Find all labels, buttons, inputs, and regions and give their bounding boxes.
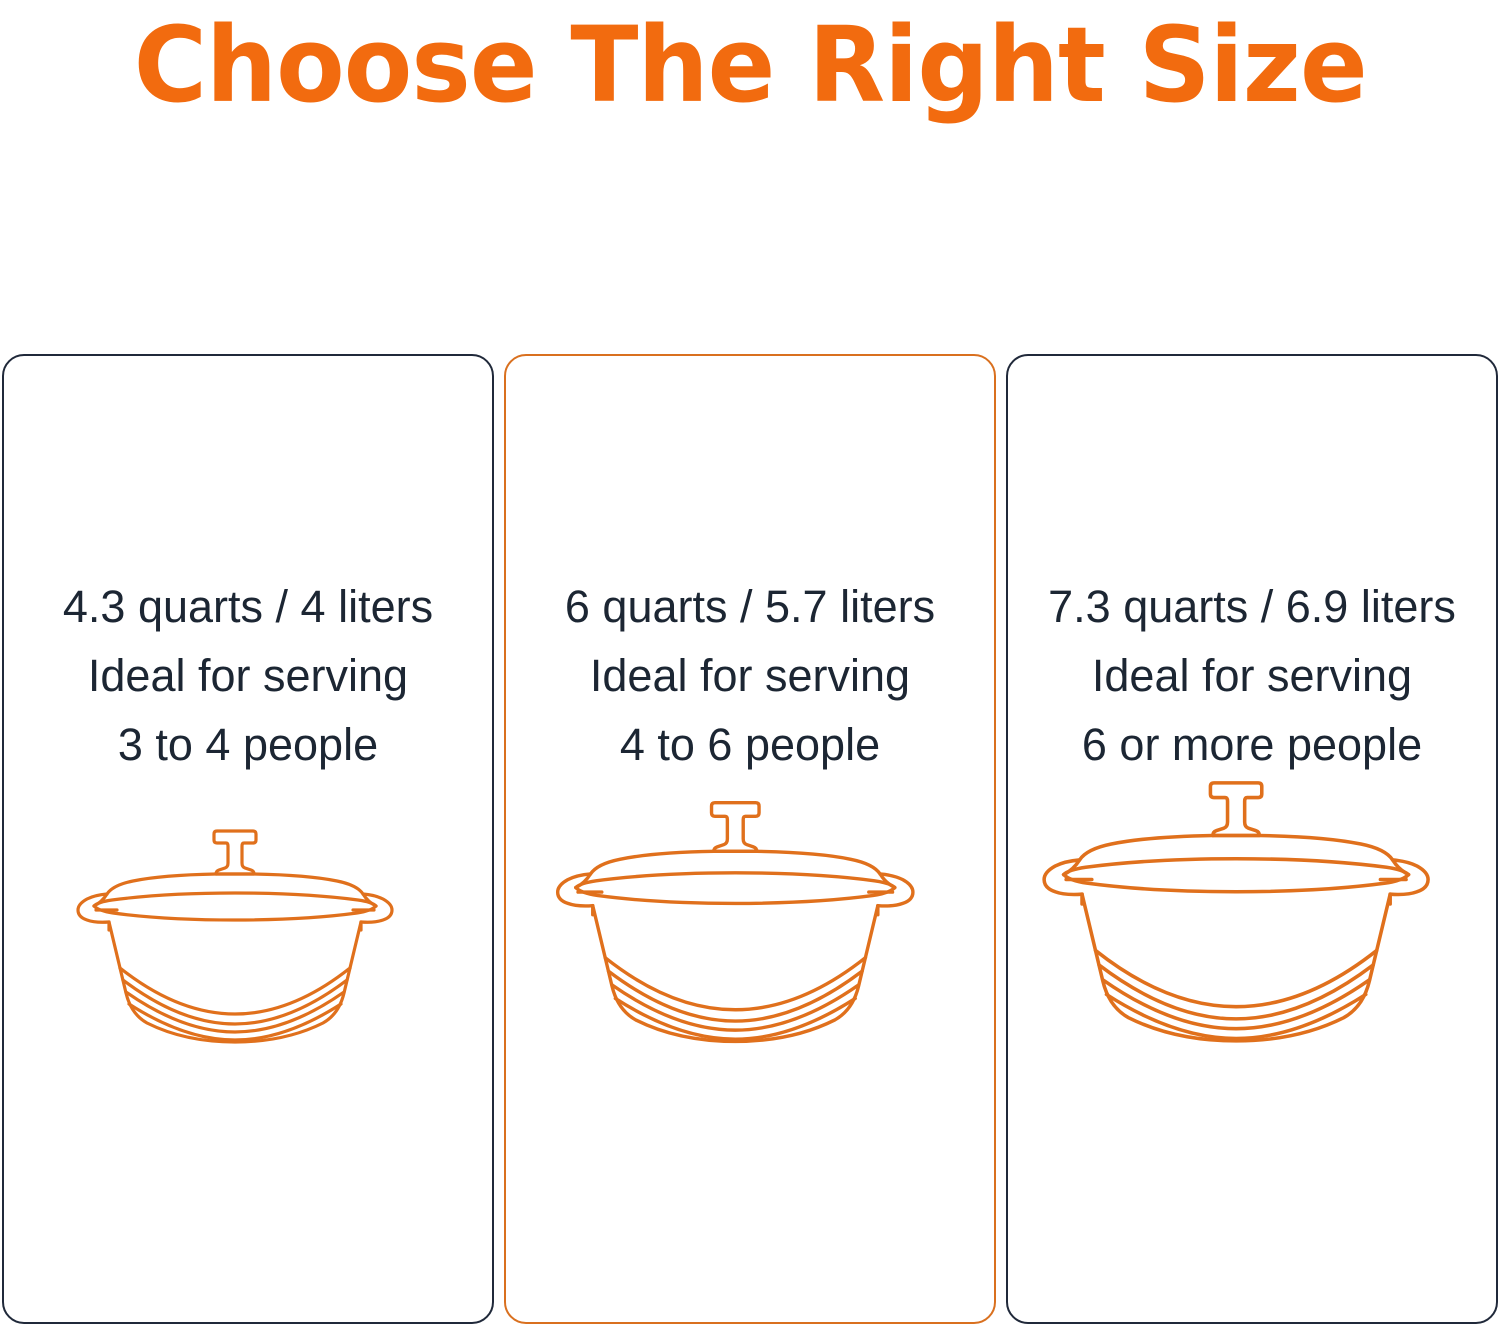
size-card-small[interactable]: 4.3 quarts / 4 liters Ideal for serving … [2, 354, 494, 1324]
size-guide-infographic: Choose The Right Size 4.3 quarts / 4 lit… [0, 0, 1500, 1330]
size-cards-row: 4.3 quarts / 4 liters Ideal for serving … [2, 354, 1498, 1324]
dutch-oven-icon [1038, 767, 1466, 1048]
page-title-text: Choose The Right Size [133, 13, 1366, 117]
size-card-small-text: 4.3 quarts / 4 liters Ideal for serving … [4, 572, 492, 779]
size-card-medium-text: 6 quarts / 5.7 liters Ideal for serving … [506, 572, 994, 779]
size-card-large[interactable]: 7.3 quarts / 6.9 liters Ideal for servin… [1006, 354, 1498, 1324]
capacity-label: 4.3 quarts / 4 liters [10, 572, 486, 641]
capacity-label: 6 quarts / 5.7 liters [512, 572, 988, 641]
dutch-oven-icon [552, 788, 948, 1048]
pot-illustration-wrap-small [4, 818, 492, 1048]
size-card-medium[interactable]: 6 quarts / 5.7 liters Ideal for serving … [504, 354, 996, 1324]
page-title: Choose The Right Size [0, 0, 1500, 130]
size-card-large-text: 7.3 quarts / 6.9 liters Ideal for servin… [1008, 572, 1496, 779]
pot-illustration-wrap-medium [506, 788, 994, 1048]
serving-count-label: 4 to 6 people [512, 710, 988, 779]
serving-count-label: 3 to 4 people [10, 710, 486, 779]
serving-prefix-label: Ideal for serving [512, 641, 988, 710]
serving-prefix-label: Ideal for serving [10, 641, 486, 710]
serving-prefix-label: Ideal for serving [1014, 641, 1490, 710]
pot-illustration-wrap-large [1008, 767, 1496, 1048]
dutch-oven-icon [73, 818, 423, 1048]
capacity-label: 7.3 quarts / 6.9 liters [1014, 572, 1490, 641]
